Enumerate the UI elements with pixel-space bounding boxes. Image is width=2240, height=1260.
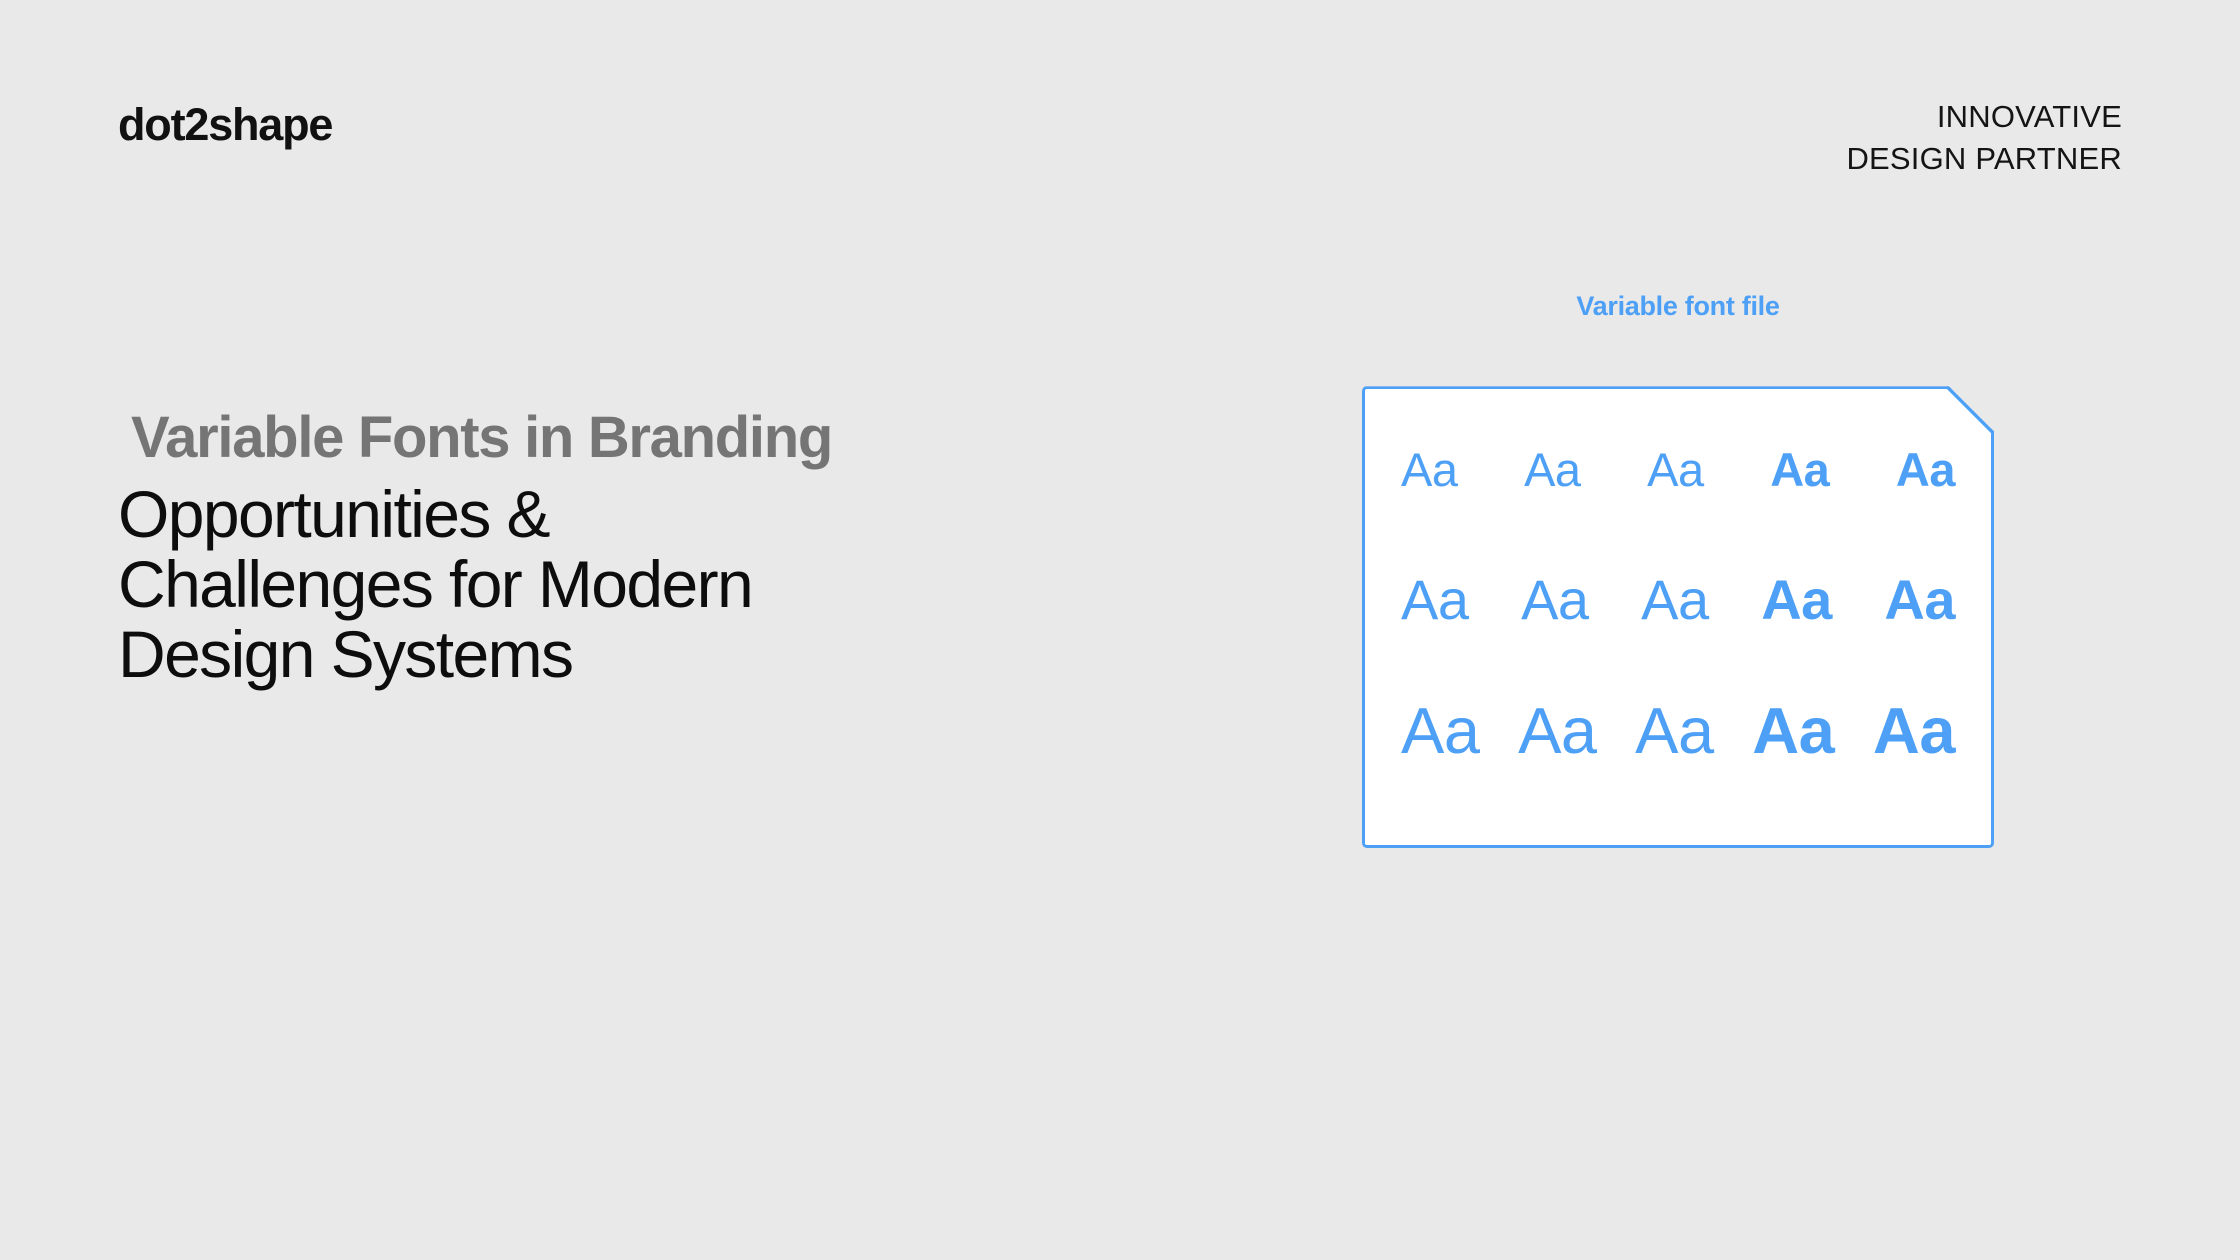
page-title: Opportunities & Challenges for Modern De… <box>118 480 1218 690</box>
specimen-aa: Aa <box>1401 572 1469 628</box>
page-title-line-1: Opportunities & <box>118 480 1218 550</box>
hero-text-block: Variable Fonts in Branding Opportunities… <box>118 406 1218 690</box>
page-title-line-2: Challenges for Modern <box>118 550 1218 620</box>
specimen-aa: Aa <box>1521 572 1589 628</box>
header-tagline: INNOVATIVE DESIGN PARTNER <box>1846 96 2122 180</box>
specimen-aa: Aa <box>1401 698 1480 763</box>
specimen-aa: Aa <box>1896 446 1955 493</box>
specimen-aa: Aa <box>1524 446 1581 493</box>
specimen-aa: Aa <box>1401 446 1458 493</box>
tagline-line-2: DESIGN PARTNER <box>1846 138 2122 180</box>
specimen-aa: Aa <box>1641 572 1709 628</box>
hero-kicker: Variable Fonts in Branding <box>118 406 1218 471</box>
page-title-line-3: Design Systems <box>118 620 1218 690</box>
font-file-card: Aa Aa Aa Aa Aa Aa Aa Aa Aa Aa Aa Aa Aa A… <box>1362 386 1994 848</box>
specimen-aa: Aa <box>1761 572 1832 628</box>
specimen-row: Aa Aa Aa Aa Aa <box>1401 572 1955 664</box>
specimen-aa: Aa <box>1873 698 1955 763</box>
brand-logo: dot2shape <box>118 100 332 150</box>
variable-font-file-label: Variable font file <box>1362 290 1994 322</box>
specimen-row: Aa Aa Aa Aa Aa <box>1401 446 1955 538</box>
specimen-aa: Aa <box>1518 698 1597 763</box>
specimen-aa: Aa <box>1647 446 1704 493</box>
specimen-aa: Aa <box>1752 698 1834 763</box>
specimen-aa: Aa <box>1635 698 1714 763</box>
specimen-row: Aa Aa Aa Aa Aa <box>1401 698 1955 790</box>
tagline-line-1: INNOVATIVE <box>1846 96 2122 138</box>
font-weight-specimen-grid: Aa Aa Aa Aa Aa Aa Aa Aa Aa Aa Aa Aa Aa A… <box>1365 389 1991 845</box>
specimen-aa: Aa <box>1770 446 1829 493</box>
variable-font-file-illustration: Variable font file Aa Aa Aa Aa Aa Aa Aa … <box>1362 290 1994 848</box>
specimen-aa: Aa <box>1884 572 1955 628</box>
